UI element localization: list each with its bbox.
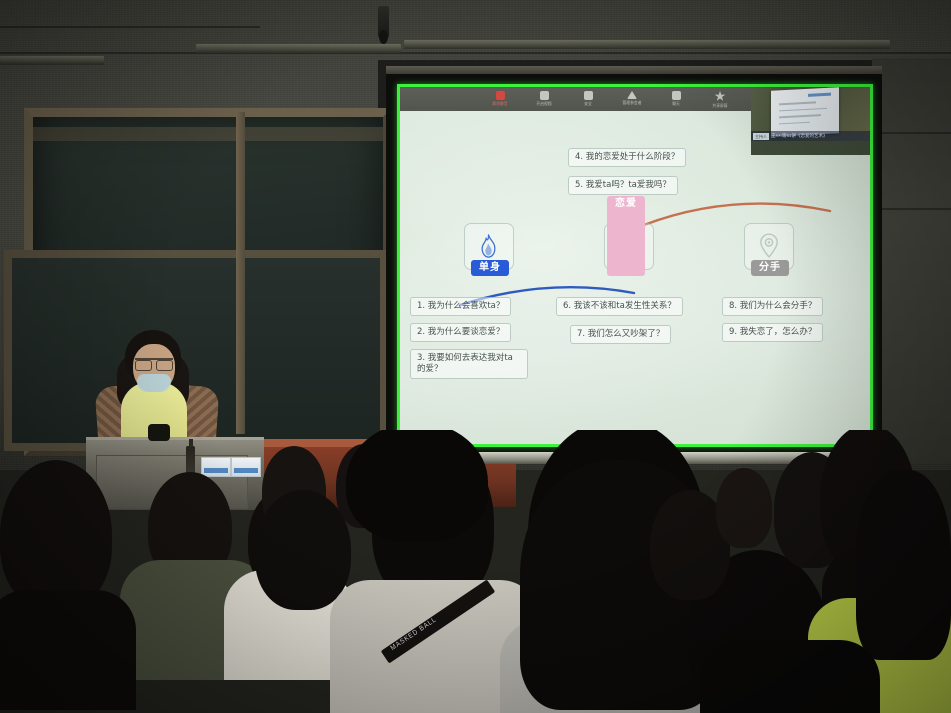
glasses-icon	[135, 358, 173, 369]
audience-body	[0, 590, 136, 710]
audience-head	[346, 430, 488, 542]
lecture-hall-photo: 解除静音 开启视频 安全 管理参会者 聊天	[0, 0, 951, 713]
blackboard-divider	[236, 112, 245, 434]
wall-ledge	[0, 56, 104, 65]
wall-seam	[0, 52, 951, 54]
wall-ledge	[404, 40, 890, 49]
wall-right-section	[872, 58, 951, 463]
wall-seam	[0, 26, 260, 28]
audience-body	[700, 640, 880, 713]
audience-head	[716, 468, 772, 548]
audience-head	[856, 470, 951, 660]
audience-head	[0, 460, 112, 610]
wall-ledge	[196, 44, 401, 53]
screen-share-highlight-border	[397, 84, 873, 447]
face-mask	[137, 374, 171, 392]
audience-head	[255, 490, 351, 610]
ceiling-lamp	[378, 6, 389, 40]
audience-area: MASKED BALL	[0, 430, 951, 713]
